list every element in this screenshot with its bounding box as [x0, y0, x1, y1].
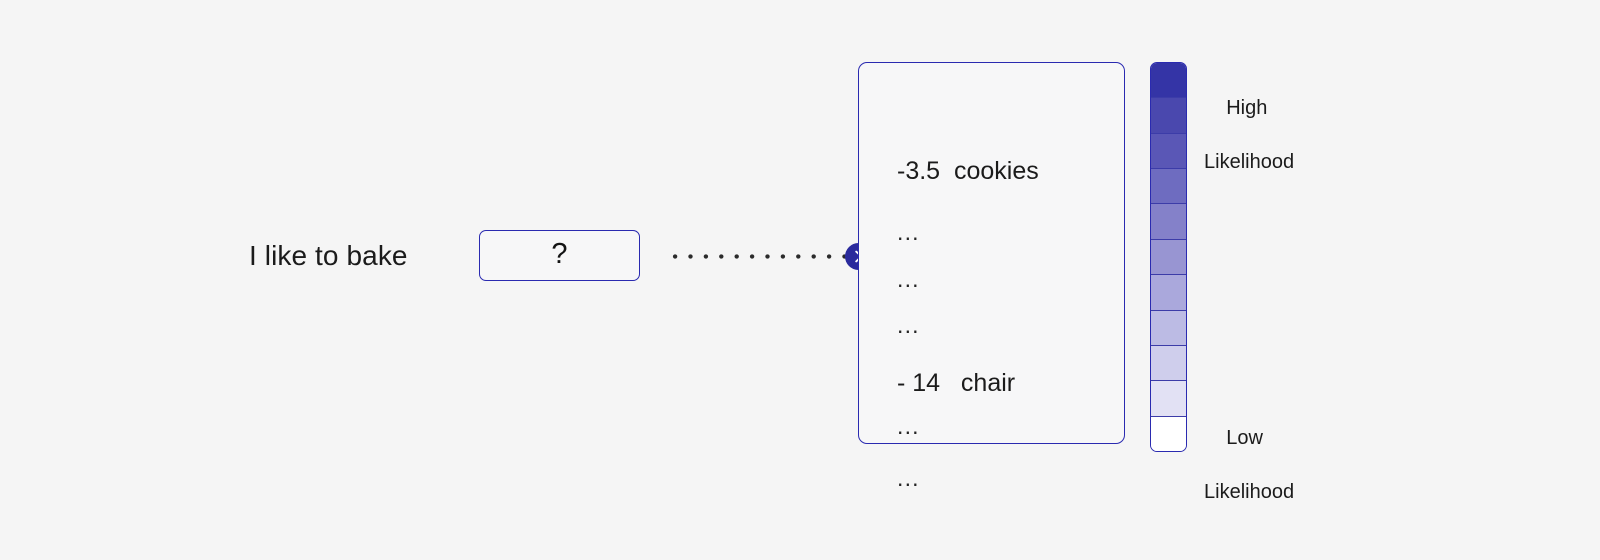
unknown-token-box[interactable]: ?	[479, 230, 640, 281]
candidate-row-cookies[interactable]: -3.5 cookies	[897, 159, 1039, 184]
diagram-canvas: I like to bake ? -3.5 cookies ... ... ..…	[0, 0, 1600, 522]
candidate-row-ellipsis-4: ...	[897, 414, 920, 439]
legend-high-line2: Likelihood	[1204, 149, 1294, 176]
legend-low-line2: Likelihood	[1204, 479, 1294, 506]
colorbar-segment-4	[1151, 204, 1186, 239]
colorbar-segment-9	[1151, 381, 1186, 416]
colorbar-segment-2	[1151, 134, 1186, 169]
candidate-row-ellipsis-1: ...	[897, 220, 920, 245]
question-mark-label: ?	[551, 240, 567, 269]
colorbar-segment-3	[1151, 169, 1186, 204]
candidate-row-ellipsis-2: ...	[897, 267, 920, 292]
candidate-row-ellipsis-5: ...	[897, 466, 920, 491]
colorbar-segment-6	[1151, 275, 1186, 310]
likelihood-colorbar	[1150, 62, 1187, 452]
colorbar-segment-5	[1151, 240, 1186, 275]
legend-low-line1: Low	[1226, 427, 1263, 449]
legend-low-label: Low Likelihood	[1204, 398, 1294, 560]
prompt-text: I like to bake	[249, 236, 408, 276]
colorbar-segment-10	[1151, 417, 1186, 451]
colorbar-segment-8	[1151, 346, 1186, 381]
candidate-token-panel: -3.5 cookies ... ... ... - 14 chair ... …	[858, 62, 1125, 444]
colorbar-segment-0	[1151, 63, 1186, 98]
dotted-connector	[672, 248, 858, 265]
legend-high-label: High Likelihood	[1204, 68, 1294, 230]
legend-high-line1: High	[1226, 97, 1267, 119]
colorbar-segment-7	[1151, 311, 1186, 346]
candidate-row-list: -3.5 cookies ... ... ... - 14 chair ... …	[897, 63, 1117, 443]
candidate-row-ellipsis-3: ...	[897, 313, 920, 338]
candidate-row-chair[interactable]: - 14 chair	[897, 371, 1015, 396]
dotted-line-icon	[672, 248, 858, 265]
colorbar-segment-1	[1151, 98, 1186, 133]
